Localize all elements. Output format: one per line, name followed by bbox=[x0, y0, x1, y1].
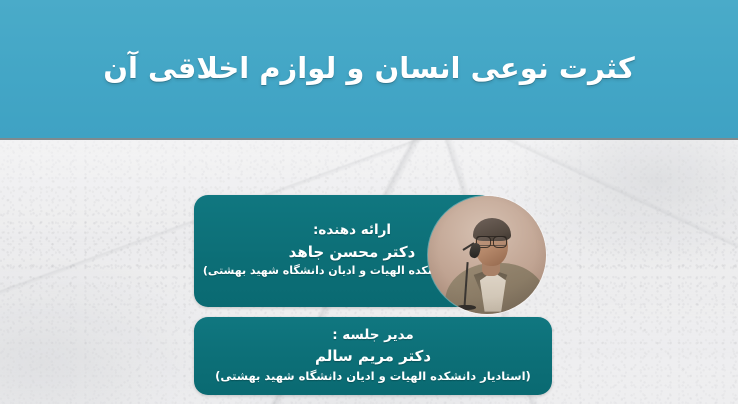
chair-affiliation: (استادیار دانشکده الهیات و ادیان دانشگاه… bbox=[215, 368, 531, 385]
chair-name: دکتر مریم سالم bbox=[315, 345, 431, 368]
poster-header-banner: کثرت نوعی انسان و لوازم اخلاقی آن bbox=[0, 0, 738, 140]
speaker-role-label: ارائه دهنده: bbox=[313, 221, 391, 241]
speaker-portrait bbox=[428, 196, 546, 314]
chair-role-label: مدیر جلسه : bbox=[332, 326, 414, 346]
speaker-name: دکتر محسن جاهد bbox=[289, 241, 416, 264]
portrait-vignette bbox=[428, 196, 546, 314]
chair-info-card: مدیر جلسه : دکتر مریم سالم (استادیار دان… bbox=[194, 317, 552, 395]
event-poster: کثرت نوعی انسان و لوازم اخلاقی آن ارائه … bbox=[0, 0, 738, 404]
poster-title: کثرت نوعی انسان و لوازم اخلاقی آن bbox=[63, 50, 675, 88]
speaker-portrait-image bbox=[428, 196, 546, 314]
